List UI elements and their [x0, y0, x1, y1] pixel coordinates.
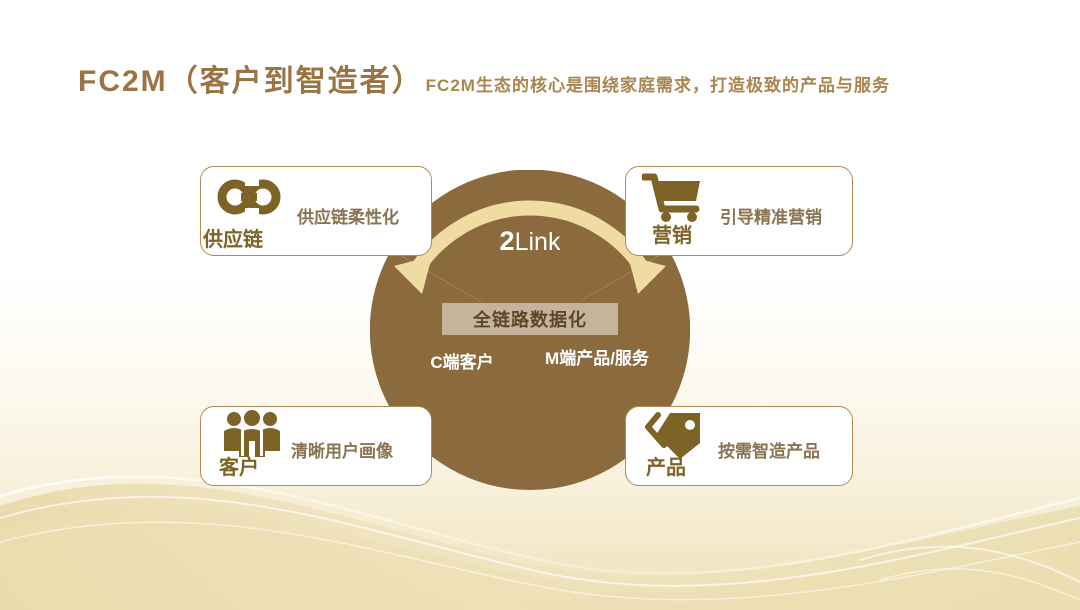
page-subtitle: FC2M生态的核心是围绕家庭需求，打造极致的产品与服务: [426, 71, 890, 96]
card-tag-product: 产品: [646, 451, 686, 480]
wheel-2link-number: 2: [500, 226, 515, 256]
card-desc-customer: 清晰用户画像: [291, 437, 393, 462]
chain-link-icon: [211, 175, 287, 224]
page-title: FC2M（客户到智造者）: [78, 56, 424, 100]
card-desc-supply-chain: 供应链柔性化: [297, 203, 399, 228]
card-desc-product: 按需智造产品: [718, 437, 820, 462]
card-supply-chain[interactable]: 供应链 供应链柔性化: [200, 166, 432, 256]
page-header: FC2M（客户到智造者） FC2M生态的核心是围绕家庭需求，打造极致的产品与服务: [78, 56, 890, 100]
wheel-band-label: 全链路数据化: [473, 306, 587, 332]
wheel-label-m-side: M端产品/服务: [538, 348, 656, 370]
card-desc-marketing: 引导精准营销: [720, 203, 822, 228]
card-tag-customer: 客户: [219, 451, 259, 480]
card-tag-marketing: 营销: [652, 219, 692, 248]
slide-canvas: FC2M（客户到智造者） FC2M生态的核心是围绕家庭需求，打造极致的产品与服务…: [0, 0, 1080, 610]
wheel-label-c-side: C端客户: [398, 348, 526, 373]
wheel-2link-word: Link: [515, 228, 561, 256]
card-tag-supply-chain: 供应链: [203, 223, 263, 252]
card-marketing[interactable]: 营销 引导精准营销: [625, 166, 853, 256]
wheel-band: 全链路数据化: [442, 303, 618, 335]
card-customer[interactable]: 客户 清晰用户画像: [200, 406, 432, 486]
card-product[interactable]: 产品 按需智造产品: [625, 406, 853, 486]
